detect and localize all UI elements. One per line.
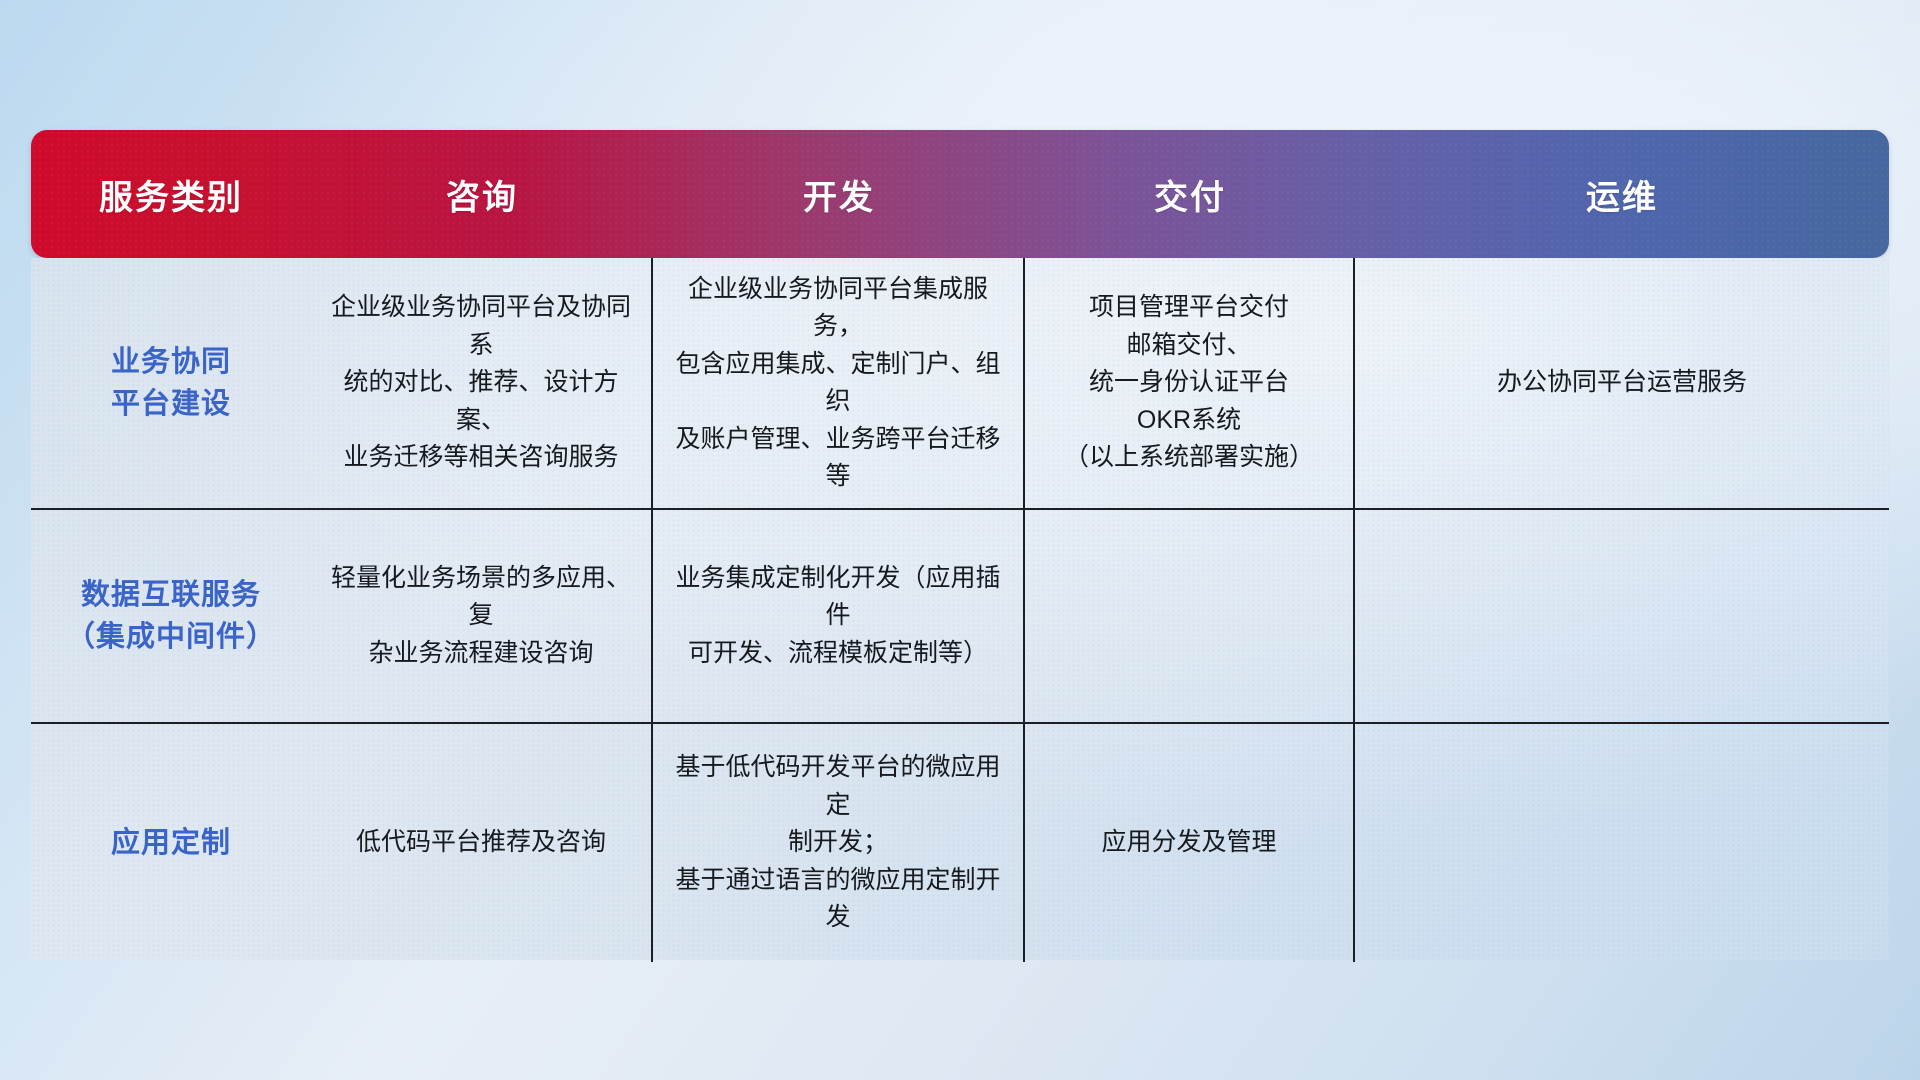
table-row: 应用定制 低代码平台推荐及咨询 基于低代码开发平台的微应用定 制开发； 基于通过… xyxy=(31,724,1889,962)
column-header-operations: 运维 xyxy=(1355,170,1889,219)
cell-operations xyxy=(1355,724,1889,962)
row-category-label: 业务协同 平台建设 xyxy=(31,258,311,508)
slide-canvas: 服务类别 咨询 开发 交付 运维 业务协同 平台建设 企业级业务协同平台及协同系… xyxy=(0,0,1920,1080)
cell-consulting: 低代码平台推荐及咨询 xyxy=(311,724,653,962)
cell-delivery: 项目管理平台交付 邮箱交付、 统一身份认证平台 OKR系统 （以上系统部署实施） xyxy=(1025,258,1355,508)
cell-delivery: 应用分发及管理 xyxy=(1025,724,1355,962)
table-body: 业务协同 平台建设 企业级业务协同平台及协同系 统的对比、推荐、设计方案、 业务… xyxy=(31,258,1889,960)
cell-consulting: 轻量化业务场景的多应用、复 杂业务流程建设咨询 xyxy=(311,510,653,722)
row-category-label: 数据互联服务 （集成中间件） xyxy=(31,510,311,722)
column-header-category: 服务类别 xyxy=(31,170,311,219)
cell-development: 基于低代码开发平台的微应用定 制开发； 基于通过语言的微应用定制开发 xyxy=(653,724,1025,962)
service-matrix-table: 服务类别 咨询 开发 交付 运维 业务协同 平台建设 企业级业务协同平台及协同系… xyxy=(31,130,1889,960)
cell-operations xyxy=(1355,510,1889,722)
column-header-consulting: 咨询 xyxy=(311,170,653,219)
cell-consulting: 企业级业务协同平台及协同系 统的对比、推荐、设计方案、 业务迁移等相关咨询服务 xyxy=(311,258,653,508)
column-header-delivery: 交付 xyxy=(1025,170,1355,219)
row-category-label: 应用定制 xyxy=(31,724,311,962)
table-row: 业务协同 平台建设 企业级业务协同平台及协同系 统的对比、推荐、设计方案、 业务… xyxy=(31,258,1889,510)
cell-development: 企业级业务协同平台集成服务， 包含应用集成、定制门户、组织 及账户管理、业务跨平… xyxy=(653,258,1025,508)
table-header-row: 服务类别 咨询 开发 交付 运维 xyxy=(31,130,1889,258)
cell-operations: 办公协同平台运营服务 xyxy=(1355,258,1889,508)
cell-delivery xyxy=(1025,510,1355,722)
column-header-development: 开发 xyxy=(653,170,1025,219)
table-row: 数据互联服务 （集成中间件） 轻量化业务场景的多应用、复 杂业务流程建设咨询 业… xyxy=(31,510,1889,724)
cell-development: 业务集成定制化开发（应用插件 可开发、流程模板定制等） xyxy=(653,510,1025,722)
